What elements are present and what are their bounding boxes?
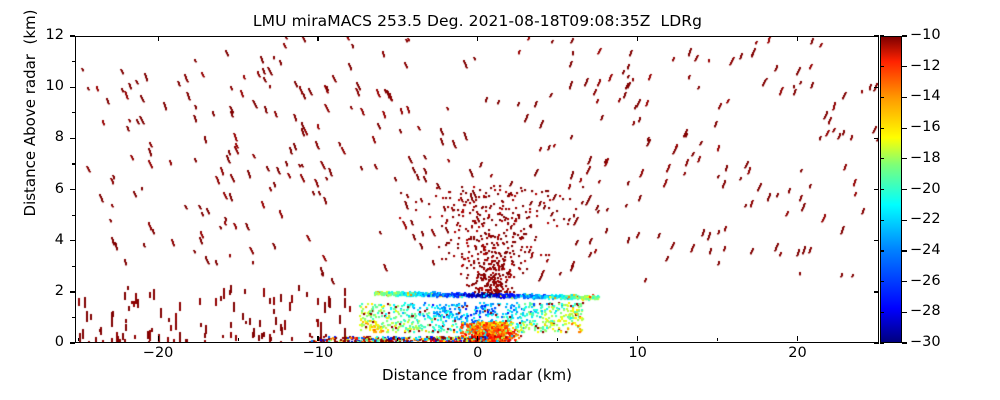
y-tick-label: 2 bbox=[18, 283, 64, 299]
colorbar-tick-mark-inner bbox=[880, 220, 884, 221]
colorbar-tick-mark bbox=[902, 220, 907, 221]
y-tick-mark bbox=[70, 240, 75, 241]
colorbar-tick-mark bbox=[902, 35, 907, 36]
colorbar-tick-mark bbox=[902, 281, 907, 282]
y-axis-label: Distance Above radar (km) bbox=[21, 0, 39, 253]
colorbar-tick-mark bbox=[902, 250, 907, 251]
colorbar-tick-label: −22 bbox=[910, 211, 941, 227]
x-tick-label: 20 bbox=[762, 345, 832, 361]
colorbar-tick-mark-inner bbox=[880, 281, 884, 282]
x-tick-mark bbox=[637, 336, 638, 341]
y-tick-mark-right bbox=[874, 87, 879, 88]
x-tick-mark-top bbox=[637, 36, 638, 41]
y-tick-mark bbox=[70, 291, 75, 292]
colorbar-tick-mark-inner bbox=[880, 66, 884, 67]
colorbar-tick-label: −14 bbox=[910, 88, 941, 104]
x-axis-label: Distance from radar (km) bbox=[75, 366, 879, 384]
y-minor-tick bbox=[72, 266, 75, 267]
y-tick-label: 0 bbox=[18, 334, 64, 350]
y-minor-tick bbox=[72, 61, 75, 62]
x-minor-tick bbox=[78, 338, 79, 341]
y-tick-mark bbox=[70, 35, 75, 36]
colorbar-group[interactable]: −30−28−26−24−22−20−18−16−14−12−10 bbox=[880, 36, 902, 343]
y-tick-mark-right bbox=[874, 35, 879, 36]
y-tick-mark bbox=[70, 342, 75, 343]
colorbar-tick-label: −24 bbox=[910, 242, 941, 258]
x-tick-label: −10 bbox=[283, 345, 353, 361]
colorbar-tick-mark bbox=[902, 312, 907, 313]
colorbar-tick-mark-inner bbox=[880, 97, 884, 98]
colorbar-tick-mark bbox=[902, 97, 907, 98]
y-tick-mark-right bbox=[874, 240, 879, 241]
colorbar-tick-mark-inner bbox=[880, 35, 884, 36]
y-minor-tick bbox=[72, 112, 75, 113]
y-tick-mark bbox=[70, 189, 75, 190]
x-tick-mark-top bbox=[317, 36, 318, 41]
x-tick-mark-top bbox=[797, 36, 798, 41]
colorbar-tick-mark bbox=[902, 128, 907, 129]
colorbar-tick-label: −30 bbox=[910, 334, 941, 350]
y-minor-tick bbox=[72, 163, 75, 164]
colorbar-tick-label: −16 bbox=[910, 119, 941, 135]
x-minor-tick bbox=[397, 338, 398, 341]
figure-canvas: LMU miraMACS 253.5 Deg. 2021-08-18T09:08… bbox=[0, 0, 1000, 400]
y-tick-mark bbox=[70, 87, 75, 88]
x-minor-tick bbox=[717, 338, 718, 341]
colorbar-tick-label: −12 bbox=[910, 58, 941, 74]
colorbar-tick-label: −26 bbox=[910, 273, 941, 289]
colorbar-tick-mark bbox=[902, 66, 907, 67]
page-title: LMU miraMACS 253.5 Deg. 2021-08-18T09:08… bbox=[0, 12, 955, 30]
colorbar-tick-mark-inner bbox=[880, 158, 884, 159]
colorbar-tick-label: −28 bbox=[910, 303, 941, 319]
y-tick-mark-right bbox=[874, 138, 879, 139]
colorbar-tick-mark-inner bbox=[880, 342, 884, 343]
x-tick-mark bbox=[477, 336, 478, 341]
x-tick-mark bbox=[797, 336, 798, 341]
y-tick-mark bbox=[70, 138, 75, 139]
x-tick-mark-top bbox=[477, 36, 478, 41]
colorbar-tick-mark bbox=[902, 189, 907, 190]
x-minor-tick bbox=[557, 338, 558, 341]
x-minor-tick bbox=[238, 338, 239, 341]
y-tick-mark-right bbox=[874, 342, 879, 343]
y-tick-mark-right bbox=[874, 189, 879, 190]
colorbar-tick-mark bbox=[902, 342, 907, 343]
colorbar-tick-label: −18 bbox=[910, 150, 941, 166]
y-minor-tick bbox=[72, 215, 75, 216]
colorbar-tick-mark bbox=[902, 158, 907, 159]
colorbar-tick-mark-inner bbox=[880, 312, 884, 313]
scatter-data-layer bbox=[76, 37, 878, 342]
colorbar-tick-mark-inner bbox=[880, 250, 884, 251]
y-minor-tick bbox=[72, 317, 75, 318]
x-tick-label: 0 bbox=[443, 345, 513, 361]
x-tick-label: 10 bbox=[603, 345, 673, 361]
colorbar-tick-label: −20 bbox=[910, 181, 941, 197]
y-tick-mark-right bbox=[874, 291, 879, 292]
colorbar-tick-label: −10 bbox=[910, 27, 941, 43]
x-tick-mark bbox=[158, 336, 159, 341]
x-tick-mark bbox=[317, 336, 318, 341]
x-tick-label: −20 bbox=[123, 345, 193, 361]
plot-area[interactable] bbox=[75, 36, 879, 343]
colorbar-tick-mark-inner bbox=[880, 189, 884, 190]
colorbar-tick-mark-inner bbox=[880, 128, 884, 129]
x-tick-mark-top bbox=[158, 36, 159, 41]
